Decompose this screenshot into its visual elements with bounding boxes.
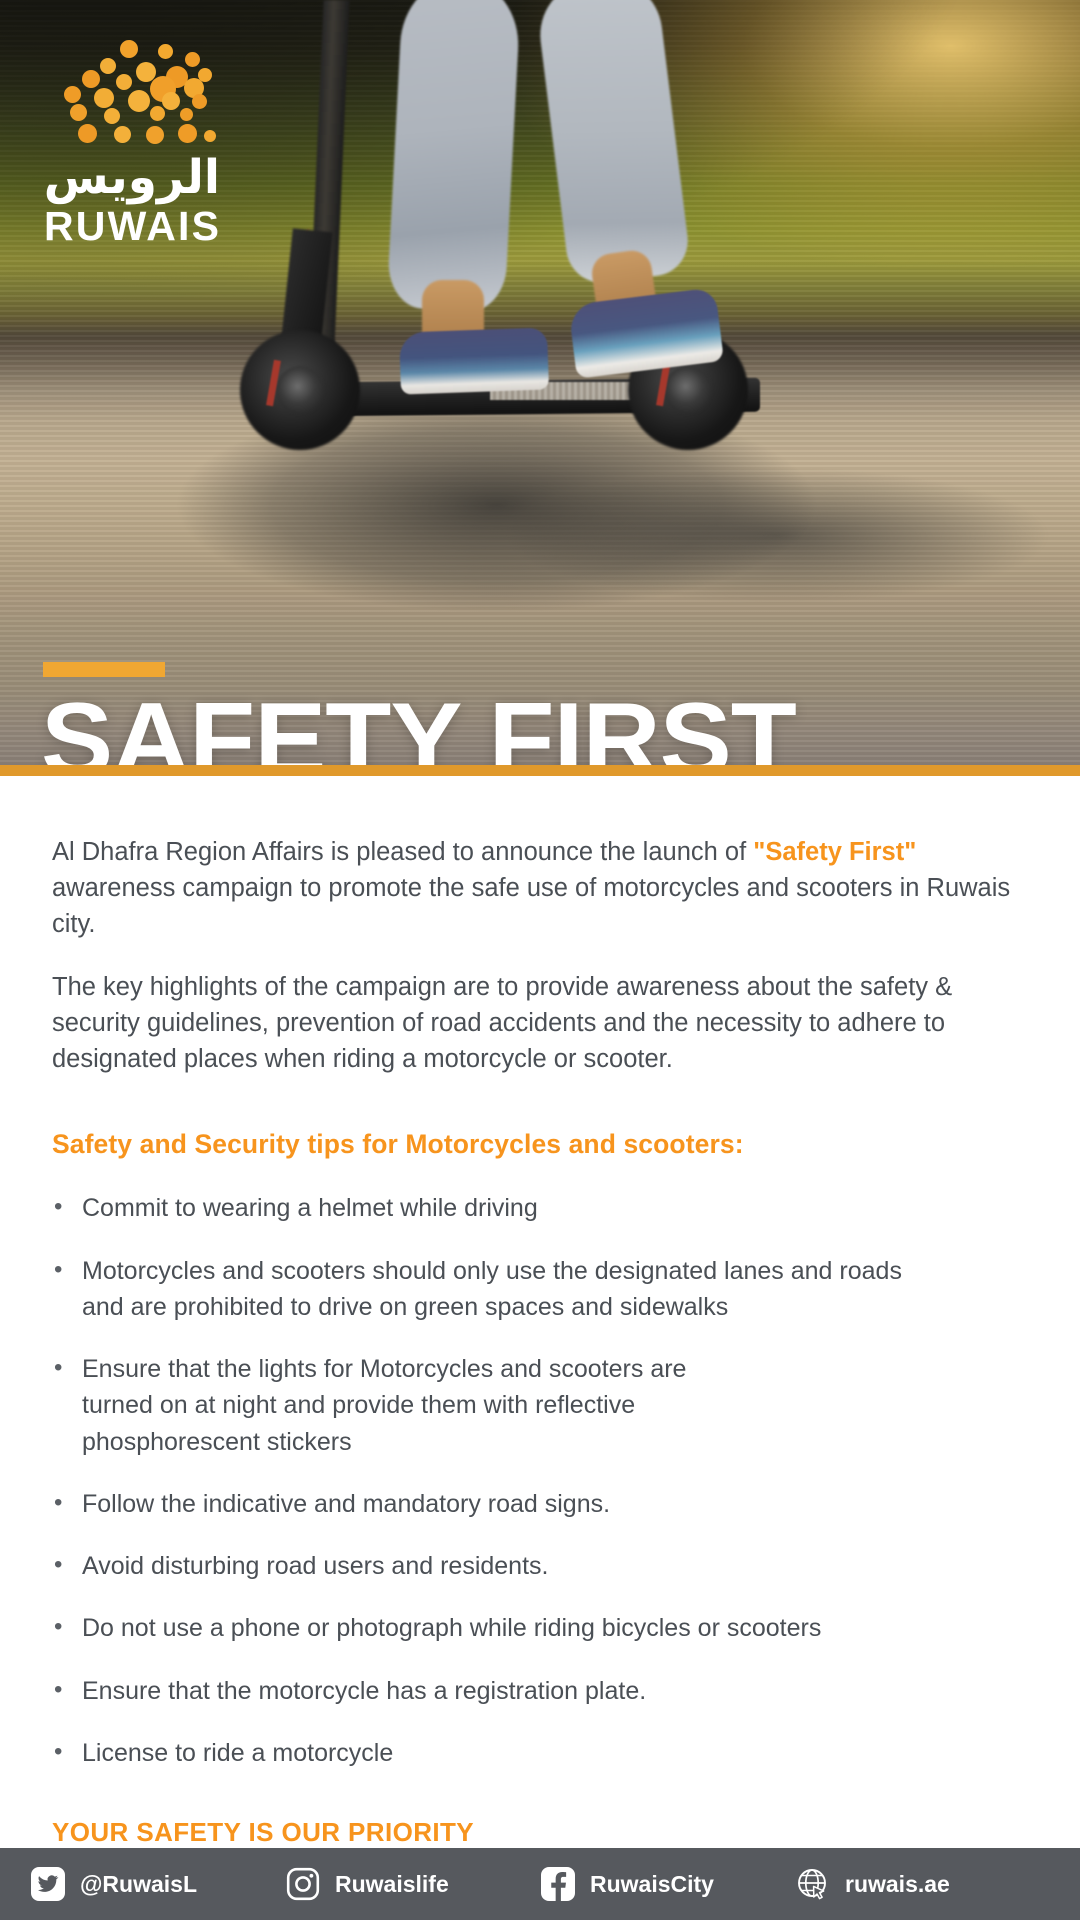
list-item-label: Do not use a phone or photograph while r… xyxy=(82,1610,821,1646)
bullet-icon: • xyxy=(52,1253,82,1288)
intro-paragraph-highlight: "Safety First" xyxy=(753,838,916,866)
list-item: • Ensure that the lights for Motorcycles… xyxy=(52,1351,1028,1460)
hero-section: الرويس RUWAIS SAFETY FIRST xyxy=(0,0,1080,765)
list-item-label: Motorcycles and scooters should only use… xyxy=(82,1253,902,1326)
list-item: • Do not use a phone or photograph while… xyxy=(52,1610,1028,1646)
social-item-twitter[interactable]: @RuwaisL xyxy=(30,1866,285,1902)
list-item: • Commit to wearing a helmet while drivi… xyxy=(52,1190,1028,1226)
list-item: • Ensure that the motorcycle has a regis… xyxy=(52,1673,1028,1709)
intro-paragraph-after: awareness campaign to promote the safe u… xyxy=(52,874,1010,938)
social-item-facebook[interactable]: RuwaisCity xyxy=(540,1866,795,1902)
orange-divider xyxy=(0,765,1080,776)
bullet-icon: • xyxy=(52,1190,82,1225)
social-item-label: RuwaisCity xyxy=(590,1871,714,1898)
list-item-label: Commit to wearing a helmet while driving xyxy=(82,1190,538,1226)
rider-front-shoe xyxy=(399,327,549,394)
social-item-label: Ruwaislife xyxy=(335,1871,449,1898)
scooter-rear-hub xyxy=(664,366,712,414)
list-item-label: Avoid disturbing road users and resident… xyxy=(82,1548,548,1584)
list-item: • Motorcycles and scooters should only u… xyxy=(52,1253,1028,1326)
intro-paragraph-before: Al Dhafra Region Affairs is pleased to a… xyxy=(52,838,753,866)
social-item-label: @RuwaisL xyxy=(80,1871,197,1898)
bullet-icon: • xyxy=(52,1610,82,1645)
facebook-icon[interactable] xyxy=(540,1866,576,1902)
bullet-icon: • xyxy=(52,1548,82,1583)
instagram-icon[interactable] xyxy=(285,1866,321,1902)
scooter-front-hub xyxy=(276,366,324,414)
list-item-label: License to ride a motorcycle xyxy=(82,1735,393,1771)
hero-title: SAFETY FIRST xyxy=(41,693,796,765)
priority-statement: YOUR SAFETY IS OUR PRIORITY xyxy=(52,1817,1028,1848)
list-item-label: Ensure that the motorcycle has a registr… xyxy=(82,1673,646,1709)
list-item: • Avoid disturbing road users and reside… xyxy=(52,1548,1028,1584)
logo-arabic-wordmark: الرويس xyxy=(44,154,220,201)
bullet-icon: • xyxy=(52,1486,82,1521)
list-item: • License to ride a motorcycle xyxy=(52,1735,1028,1771)
ruwais-logo: الرويس RUWAIS xyxy=(44,40,224,250)
tips-list: • Commit to wearing a helmet while drivi… xyxy=(52,1190,1028,1771)
highlights-paragraph: The key highlights of the campaign are t… xyxy=(52,969,1028,1078)
intro-paragraph: Al Dhafra Region Affairs is pleased to a… xyxy=(52,834,1028,943)
twitter-icon[interactable] xyxy=(30,1866,66,1902)
bullet-icon: • xyxy=(52,1735,82,1770)
content-section: Al Dhafra Region Affairs is pleased to a… xyxy=(0,776,1080,1848)
social-item-website[interactable]: ruwais.ae xyxy=(795,1866,1050,1902)
list-item: • Follow the indicative and mandatory ro… xyxy=(52,1486,1028,1522)
social-item-label: ruwais.ae xyxy=(845,1871,950,1898)
rider-front-leg xyxy=(386,0,521,313)
tips-heading: Safety and Security tips for Motorcycles… xyxy=(52,1129,1028,1160)
dot-cluster-sun-logo-icon xyxy=(58,40,204,148)
hero-accent-bar xyxy=(43,662,165,677)
globe-cursor-icon[interactable] xyxy=(795,1866,831,1902)
bullet-icon: • xyxy=(52,1351,82,1386)
social-item-instagram[interactable]: Ruwaislife xyxy=(285,1866,540,1902)
poster-root: الرويس RUWAIS SAFETY FIRST Al Dhafra Reg… xyxy=(0,0,1080,1920)
list-item-label: Follow the indicative and mandatory road… xyxy=(82,1486,610,1522)
logo-latin-wordmark: RUWAIS xyxy=(44,203,220,250)
social-footer: @RuwaisL Ruwaislife RuwaisCity xyxy=(0,1848,1080,1920)
bullet-icon: • xyxy=(52,1673,82,1708)
list-item-label: Ensure that the lights for Motorcycles a… xyxy=(82,1351,686,1460)
